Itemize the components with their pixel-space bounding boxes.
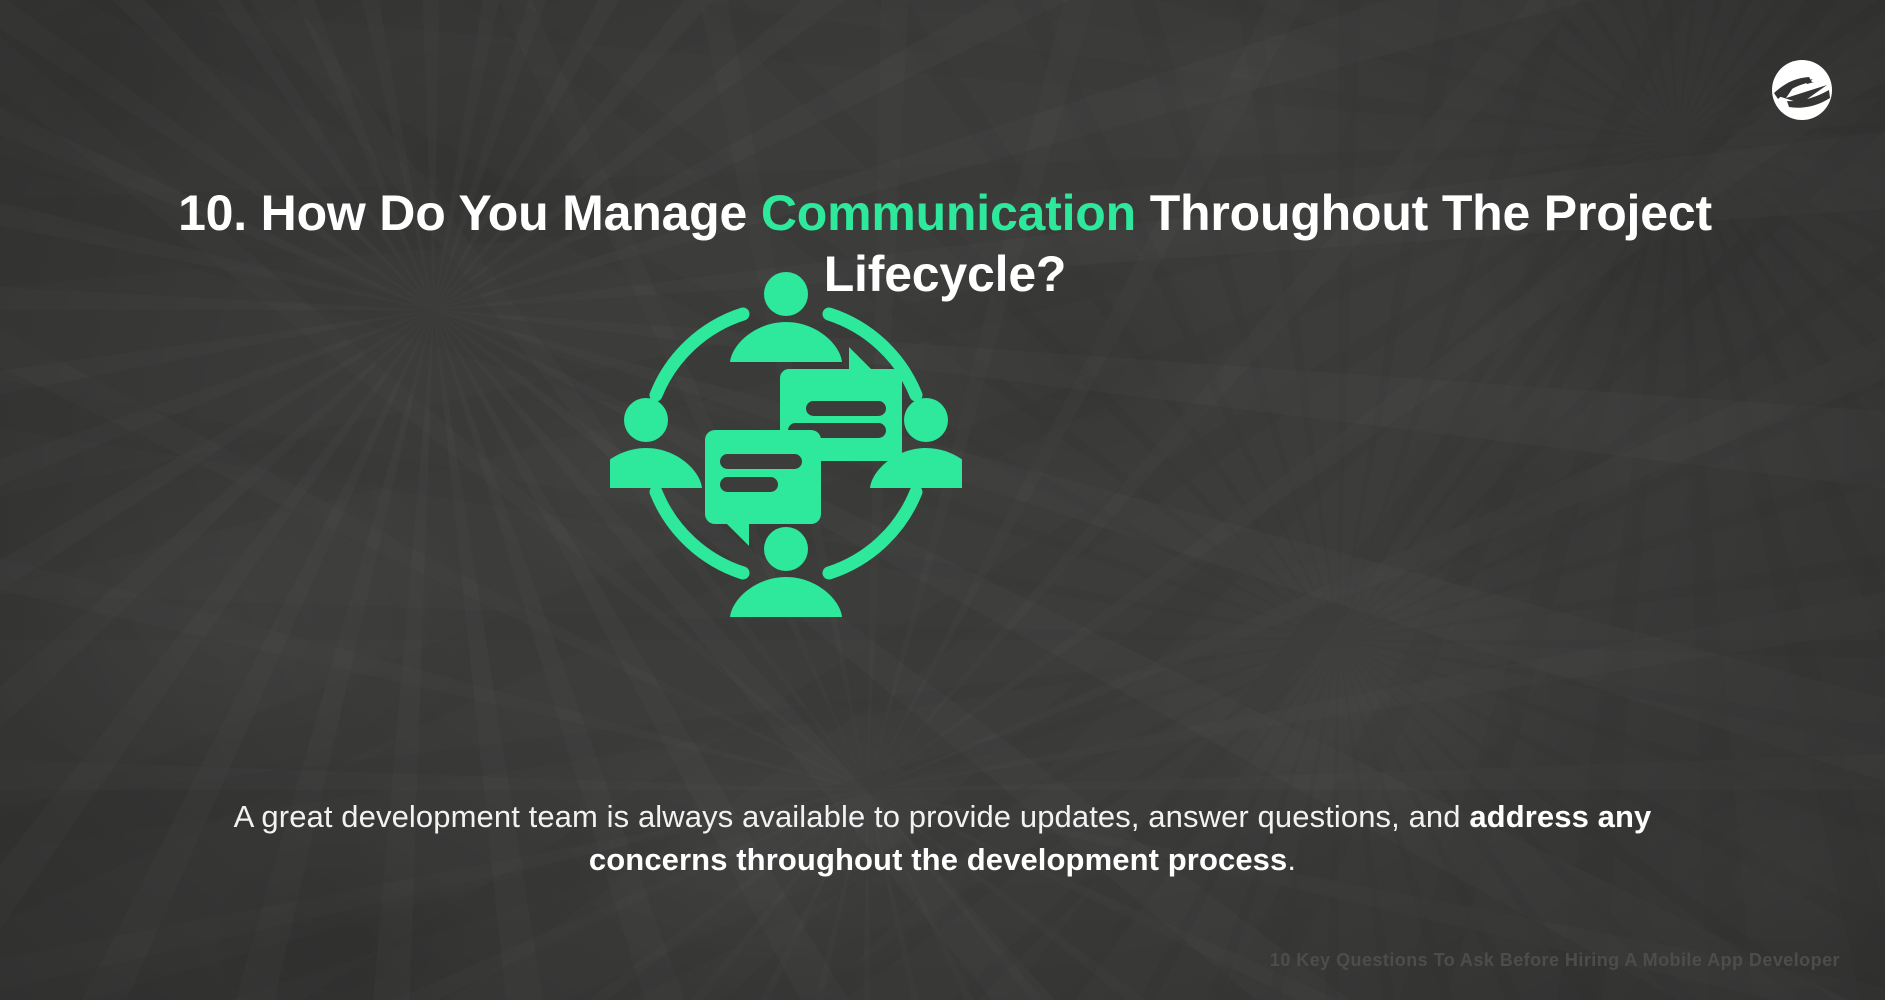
speech-bubble-lower (705, 430, 821, 546)
body-tail: . (1287, 842, 1296, 877)
arc-bottom-right (829, 492, 916, 573)
footer-caption: 10 Key Questions To Ask Before Hiring A … (1270, 950, 1840, 971)
brand-logo (1769, 57, 1835, 123)
bubble-upper-line-1 (806, 401, 886, 416)
title-part-one: 10. How Do You Manage (178, 185, 761, 241)
bubble-lower-line-1 (720, 454, 802, 469)
slide-root: 10. How Do You Manage Communication Thro… (0, 0, 1885, 1000)
arc-top-left (656, 314, 743, 395)
bubble-lower-line-2 (720, 477, 778, 492)
body-lead: A great development team is always avail… (234, 799, 1470, 834)
communication-network-icon (610, 268, 962, 618)
title-accent-word: Communication (761, 185, 1136, 241)
body-paragraph: A great development team is always avail… (200, 795, 1685, 882)
person-left (610, 398, 702, 488)
